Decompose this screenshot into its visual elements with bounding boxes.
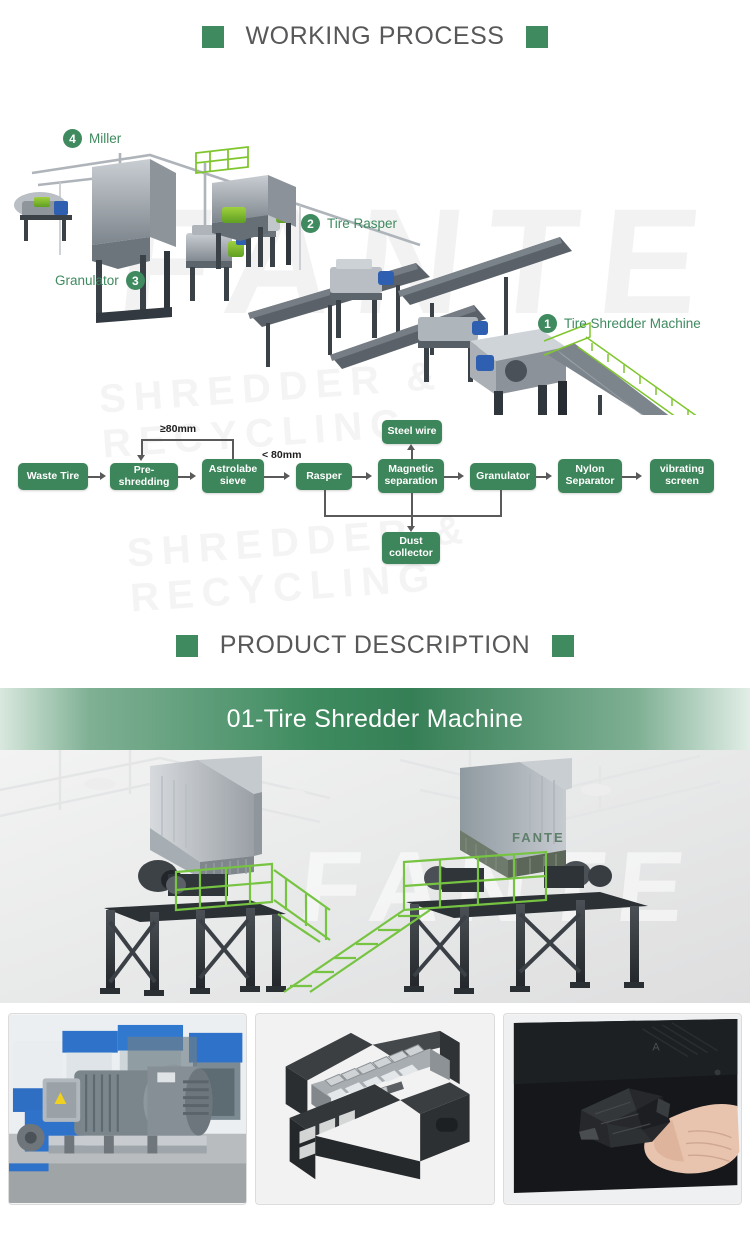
edge-magnetic-to-steel — [411, 450, 413, 460]
process-illustration: FANTE SHREDDER & RECYCLING — [0, 55, 750, 415]
heading-square-left-2 — [176, 635, 198, 657]
edge-rasper-bottom-run — [324, 515, 502, 517]
arrow-magnetic-to-dust — [407, 526, 415, 532]
label-text-tire-shredder: Tire Shredder Machine — [564, 316, 701, 331]
arrow-nylon-to-vibrating — [636, 472, 642, 480]
edge-granulator-to-nylon — [536, 476, 546, 478]
edge-loop-top — [141, 439, 233, 441]
edge-sieve-up — [232, 439, 234, 459]
product-description-title: PRODUCT DESCRIPTION — [220, 631, 530, 660]
arrow-magnetic-to-steel — [407, 444, 415, 450]
label-text-miller: Miller — [89, 131, 121, 146]
flow-node-vibrating-screen: vibrating screen — [650, 459, 714, 493]
badge-number-3: 3 — [126, 271, 145, 290]
flow-node-astrolabe-sieve: Astrolabe sieve — [202, 459, 264, 493]
flow-node-magnetic-separation: Magnetic separation — [378, 459, 444, 493]
edge-magnetic-to-dust — [411, 493, 413, 526]
motor-drive-photo — [9, 1014, 246, 1204]
label-text-granulator: Granulator — [55, 273, 119, 288]
edge-label-undersize: < 80mm — [262, 449, 301, 461]
working-process-heading: WORKING PROCESS — [0, 22, 750, 51]
arrow-magnetic-to-granulator — [458, 472, 464, 480]
svg-text:A: A — [652, 1042, 660, 1054]
thumbnail-shredded-rubber[interactable]: CYCLING A — [503, 1013, 742, 1205]
arrow-loop-to-preshred — [137, 455, 145, 461]
product-banner-title: 01-Tire Shredder Machine — [227, 705, 524, 734]
product-thumbnail-row: D REC — [0, 1003, 750, 1215]
label-text-tire-rasper: Tire Rasper — [327, 216, 397, 231]
production-line-artwork — [0, 55, 750, 415]
badge-number-2: 2 — [301, 214, 320, 233]
product-description-heading: PRODUCT DESCRIPTION — [0, 631, 750, 660]
product-detail-page: WORKING PROCESS FANTE SHREDDER & RECYCLI… — [0, 22, 750, 1248]
hero-artwork: FANTE — [0, 750, 750, 1003]
flow-node-dust-collector: Dust collector — [382, 532, 440, 564]
edge-label-oversize: ≥80mm — [160, 423, 196, 435]
svg-text:FANTE: FANTE — [512, 830, 565, 845]
edge-granulator-down — [500, 490, 502, 516]
flow-node-nylon-separator: Nylon Separator — [558, 459, 622, 493]
process-flowchart: SHREDDER & RECYCLING Waste Tire Pre-shre… — [0, 415, 750, 605]
arrow-granulator-to-nylon — [546, 472, 552, 480]
edge-loop-down — [141, 439, 143, 455]
diagram-label-granulator: 3 Granulator — [55, 271, 145, 290]
edge-magnetic-to-granulator — [444, 476, 458, 478]
shredded-rubber-photo: A — [504, 1014, 741, 1204]
thumbnail-motor-drive[interactable] — [8, 1013, 247, 1205]
thumbnail-blade-assembly[interactable]: D REC — [255, 1013, 494, 1205]
flow-node-granulator: Granulator — [470, 463, 536, 490]
arrow-waste-to-preshred — [100, 472, 106, 480]
edge-sieve-to-rasper — [264, 476, 284, 478]
heading-square-right — [526, 26, 548, 48]
badge-number-1: 1 — [538, 314, 557, 333]
flow-node-rasper: Rasper — [296, 463, 352, 490]
product-banner: 01-Tire Shredder Machine — [0, 688, 750, 750]
flow-node-pre-shredding: Pre-shredding — [110, 463, 178, 490]
diagram-label-tire-shredder: 1 Tire Shredder Machine — [538, 314, 701, 333]
arrow-preshred-to-sieve — [190, 472, 196, 480]
page-title: WORKING PROCESS — [246, 22, 505, 51]
diagram-label-miller: 4 Miller — [63, 129, 121, 148]
heading-square-right-2 — [552, 635, 574, 657]
product-hero-image: FANTE — [0, 750, 750, 1003]
heading-square-left — [202, 26, 224, 48]
badge-number-4: 4 — [63, 129, 82, 148]
arrow-rasper-to-magnetic — [366, 472, 372, 480]
flow-node-steel-wire: Steel wire — [382, 420, 442, 444]
blade-assembly-render — [256, 1014, 493, 1204]
arrow-sieve-to-rasper — [284, 472, 290, 480]
edge-nylon-to-vibrating — [622, 476, 636, 478]
edge-rasper-down — [324, 490, 326, 516]
diagram-label-tire-rasper: 2 Tire Rasper — [301, 214, 397, 233]
flow-node-waste-tire: Waste Tire — [18, 463, 88, 490]
edge-rasper-to-magnetic — [352, 476, 366, 478]
